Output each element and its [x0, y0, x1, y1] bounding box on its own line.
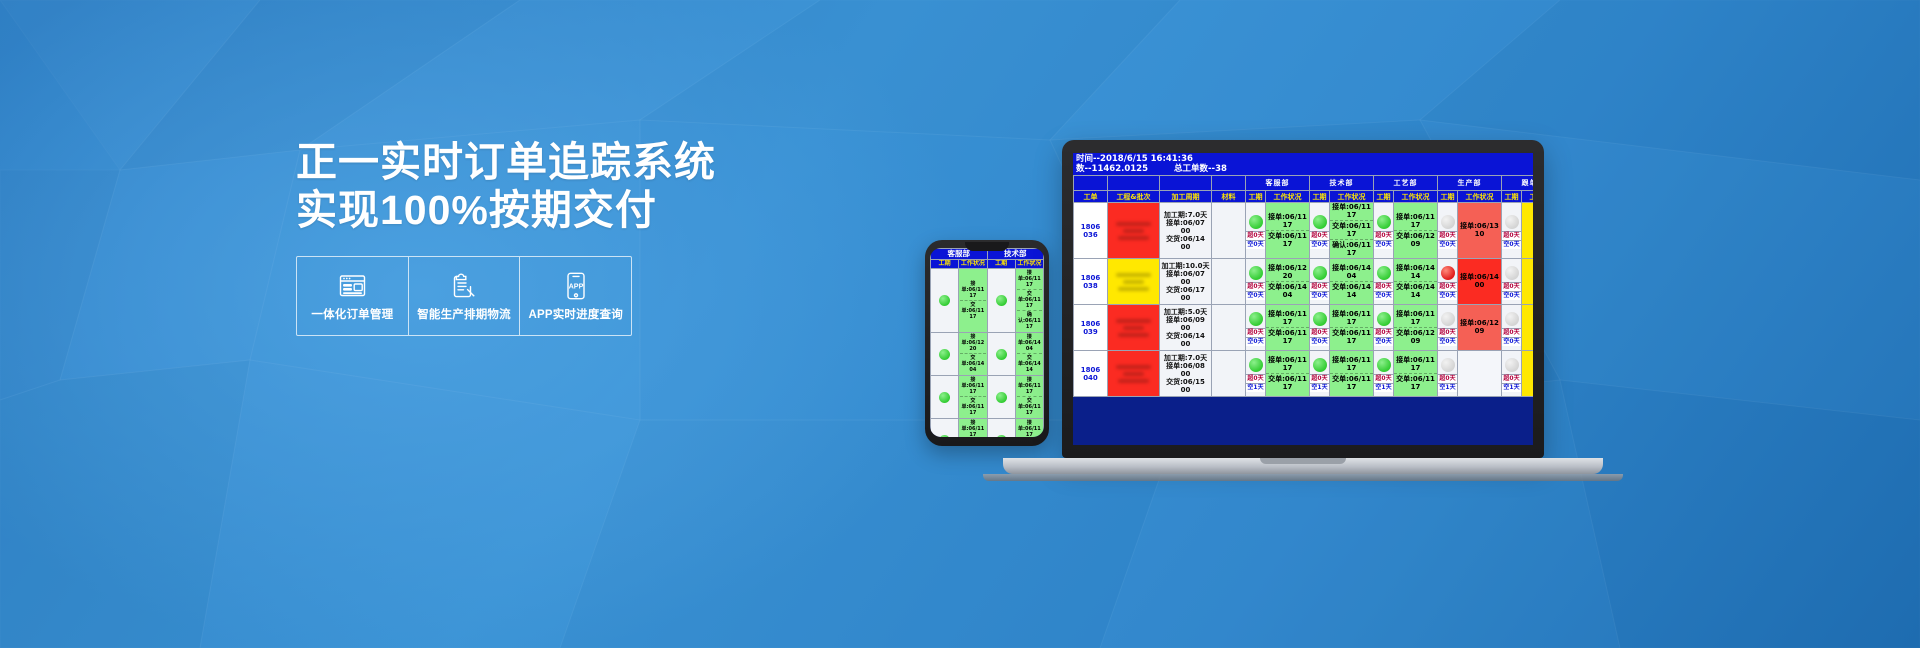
- overdue-label: 超0天: [1502, 231, 1521, 240]
- work-status-cell: 接单:06/12 09: [1458, 305, 1502, 351]
- work-status-cell: 接单:06/11 17交单:06/11 17: [1394, 351, 1438, 397]
- status-dot: [996, 295, 1007, 306]
- material-cell: [1212, 351, 1246, 397]
- status-dot: [1313, 312, 1327, 326]
- status-dot: [1505, 215, 1519, 229]
- processing-cycle-cell: 加工期:10.0天接单:06/07 00交货:06/17 00: [1160, 259, 1212, 305]
- work-status-cell: 交货:: [1522, 259, 1534, 305]
- phone-work-status-cell: 接单:06/11 17交单:06/11 17确认:06/11 17: [1015, 269, 1043, 333]
- status-dot: [1377, 312, 1391, 326]
- status-dot: [1505, 358, 1519, 372]
- erp-col-工作状况: 工作状况: [1522, 191, 1534, 203]
- duration-cell: 超0天空0天: [1246, 305, 1266, 351]
- overdue-label: 超0天: [1502, 374, 1521, 383]
- idle-label: 空0天: [1438, 291, 1457, 300]
- table-row[interactable]: 1806038加工期:10.0天接单:06/07 00交货:06/17 00超0…: [1074, 259, 1534, 305]
- phone-table-row[interactable]: 接单:06/11 17交单:06/11 17接单:06/11 17交单:06/1…: [931, 376, 1044, 419]
- overdue-label: 超0天: [1374, 282, 1393, 291]
- idle-label: 空1天: [1438, 383, 1457, 392]
- duration-cell: 超0天空0天: [1374, 259, 1394, 305]
- work-status-cell: 接单:06/14 00: [1458, 259, 1502, 305]
- overdue-label: 超0天: [1246, 231, 1265, 240]
- phone-duration-cell: [987, 376, 1015, 419]
- overdue-label: 超0天: [1438, 328, 1457, 337]
- duration-cell: 超0天空0天: [1310, 259, 1330, 305]
- status-dot: [1313, 215, 1327, 229]
- erp-col-工期: 工期: [1502, 191, 1522, 203]
- work-status-cell: 交货:: [1522, 203, 1534, 259]
- duration-cell: 超0天空1天: [1502, 351, 1522, 397]
- erp-col-材料: 材料: [1212, 191, 1246, 203]
- idle-label: 空0天: [1374, 337, 1393, 346]
- work-status-cell: 接单:06/11 17交单:06/11 17: [1266, 305, 1310, 351]
- erp-dept-header: 客服部: [1246, 176, 1310, 191]
- duration-cell: 超0天空1天: [1310, 351, 1330, 397]
- duration-cell: 超0天空1天: [1438, 351, 1458, 397]
- laptop-foot: [983, 474, 1623, 481]
- status-dot: [939, 349, 950, 360]
- idle-label: 空0天: [1246, 240, 1265, 249]
- work-status-cell: 接单:06/11 17交单:06/12 09: [1394, 203, 1438, 259]
- overdue-label: 超0天: [1438, 231, 1457, 240]
- status-dot: [1377, 358, 1391, 372]
- promo-banner: 正一实时订单追踪系统 实现100%按期交付: [0, 0, 1920, 648]
- overdue-label: 超0天: [1374, 231, 1393, 240]
- idle-label: 空1天: [1310, 383, 1329, 392]
- status-dot: [1441, 266, 1455, 280]
- status-dot: [1313, 358, 1327, 372]
- phone-duration-cell: [987, 269, 1015, 333]
- status-dot: [1377, 215, 1391, 229]
- erp-time-label: 时间--2018/6/15 16:41:36: [1076, 154, 1530, 164]
- erp-col-工期: 工期: [1438, 191, 1458, 203]
- idle-label: 空0天: [1310, 240, 1329, 249]
- idle-label: 空0天: [1310, 291, 1329, 300]
- erp-col-工单: 工单: [1074, 191, 1108, 203]
- work-status-cell: 交货:: [1522, 351, 1534, 397]
- phone-duration-cell: [987, 333, 1015, 376]
- phone-body: 客服部 技术部 工期 工作状况 工期 工作状况 接单:06/11 17交单:06…: [925, 240, 1049, 446]
- work-status-cell: 接单:06/11 17交单:06/12 09: [1394, 305, 1438, 351]
- material-cell: [1212, 203, 1246, 259]
- phone-col-status: 工作状况: [959, 260, 987, 269]
- erp-total-orders-label: 总工单数--38: [1174, 164, 1227, 174]
- overdue-label: 超0天: [1438, 374, 1457, 383]
- duration-cell: 超0天空0天: [1374, 305, 1394, 351]
- duration-cell: 超0天空0天: [1310, 203, 1330, 259]
- laptop-base-notch: [1260, 458, 1346, 464]
- erp-col-工作状况: 工作状况: [1330, 191, 1374, 203]
- idle-label: 空1天: [1246, 383, 1265, 392]
- idle-label: 空1天: [1374, 383, 1393, 392]
- project-batch-cell: [1108, 259, 1160, 305]
- erp-col-工作状况: 工作状况: [1266, 191, 1310, 203]
- idle-label: 空0天: [1502, 291, 1521, 300]
- processing-cycle-cell: 加工期:7.0天接单:06/07 00交货:06/14 00: [1160, 203, 1212, 259]
- status-dot: [1249, 266, 1263, 280]
- idle-label: 空1天: [1502, 383, 1521, 392]
- phone-work-status-cell: 接单:06/11 17交单:06/11 17: [959, 419, 987, 438]
- phone-duration-cell: [931, 376, 959, 419]
- erp-dept-header: 跟单部: [1502, 176, 1534, 191]
- idle-label: 空0天: [1246, 291, 1265, 300]
- work-status-cell: 接单:06/14 14交单:06/14 14: [1394, 259, 1438, 305]
- overdue-label: 超0天: [1246, 328, 1265, 337]
- status-dot: [1249, 358, 1263, 372]
- duration-cell: 超0天空0天: [1246, 203, 1266, 259]
- phone-notch: [965, 242, 1009, 251]
- phone-work-status-cell: 接单:06/11 17交单:06/11 17: [1015, 376, 1043, 419]
- work-status-cell: 接单:06/12 20交单:06/14 04: [1266, 259, 1310, 305]
- table-row[interactable]: 1806040加工期:7.0天接单:06/08 00交货:06/15 00超0天…: [1074, 351, 1534, 397]
- phone-duration-cell: [931, 333, 959, 376]
- phone-work-status-cell: 接单:06/11 17交单:06/11 17: [959, 269, 987, 333]
- phone-mockup: 客服部 技术部 工期 工作状况 工期 工作状况 接单:06/11 17交单:06…: [925, 240, 1049, 446]
- overdue-label: 超0天: [1310, 282, 1329, 291]
- status-dot: [939, 295, 950, 306]
- status-dot: [939, 392, 950, 403]
- idle-label: 空0天: [1438, 337, 1457, 346]
- erp-col-工期: 工期: [1310, 191, 1330, 203]
- overdue-label: 超0天: [1438, 282, 1457, 291]
- erp-table: 客服部技术部工艺部生产部跟单部 工单工程&批次加工周期材料工期工作状况工期工作状…: [1073, 175, 1533, 397]
- laptop-mockup: 时间--2018/6/15 16:41:36 数--11462.0125 总工单…: [1062, 140, 1623, 481]
- erp-dept-spacer: [1074, 176, 1108, 191]
- phone-work-status-cell: 接单:06/12 20交单:06/14 04: [959, 333, 987, 376]
- idle-label: 空0天: [1310, 337, 1329, 346]
- erp-dept-header-row: 客服部技术部工艺部生产部跟单部: [1074, 176, 1534, 191]
- material-cell: [1212, 305, 1246, 351]
- phone-erp-table: 客服部 技术部 工期 工作状况 工期 工作状况 接单:06/11 17交单:06…: [930, 248, 1044, 437]
- phone-table-row[interactable]: 接单:06/11 17交单:06/11 17接单:06/11 17交单:06/1…: [931, 269, 1044, 333]
- erp-dept-header: 生产部: [1438, 176, 1502, 191]
- phone-col-duration: 工期: [987, 260, 1015, 269]
- duration-cell: 超0天空1天: [1246, 351, 1266, 397]
- phone-screen: 客服部 技术部 工期 工作状况 工期 工作状况 接单:06/11 17交单:06…: [930, 248, 1044, 437]
- erp-qty-label: 数--11462.0125: [1076, 164, 1148, 174]
- phone-col-duration: 工期: [931, 260, 959, 269]
- phone-table-row[interactable]: 接单:06/12 20交单:06/14 04接单:06/14 04交单:06/1…: [931, 333, 1044, 376]
- idle-label: 空0天: [1374, 291, 1393, 300]
- status-dot: [1249, 312, 1263, 326]
- status-dot: [1505, 266, 1519, 280]
- status-dot: [996, 392, 1007, 403]
- order-number-cell: 1806038: [1074, 259, 1108, 305]
- status-dot: [1313, 266, 1327, 280]
- erp-col-工期: 工期: [1374, 191, 1394, 203]
- order-number-cell: 1806036: [1074, 203, 1108, 259]
- erp-col-工程&批次: 工程&批次: [1108, 191, 1160, 203]
- phone-work-status-cell: 接单:06/14 04交单:06/14 14: [1015, 333, 1043, 376]
- overdue-label: 超0天: [1374, 374, 1393, 383]
- duration-cell: 超0天空0天: [1438, 203, 1458, 259]
- idle-label: 空0天: [1246, 337, 1265, 346]
- erp-column-header-row: 工单工程&批次加工周期材料工期工作状况工期工作状况工期工作状况工期工作状况工期工…: [1074, 191, 1534, 203]
- processing-cycle-cell: 加工期:7.0天接单:06/08 00交货:06/15 00: [1160, 351, 1212, 397]
- phone-column-header-row: 工期 工作状况 工期 工作状况: [931, 260, 1044, 269]
- overdue-label: 超0天: [1374, 328, 1393, 337]
- status-dot: [1441, 215, 1455, 229]
- idle-label: 空0天: [1374, 240, 1393, 249]
- overdue-label: 超0天: [1246, 282, 1265, 291]
- project-batch-cell: [1108, 305, 1160, 351]
- phone-duration-cell: [987, 419, 1015, 438]
- order-number-cell: 1806040: [1074, 351, 1108, 397]
- overdue-label: 超0天: [1310, 328, 1329, 337]
- phone-work-status-cell: 接单:06/11 17交单:06/11 17: [1015, 419, 1043, 438]
- work-status-cell: 接单:06/11 17交单:06/11 17: [1266, 203, 1310, 259]
- overdue-label: 超0天: [1502, 328, 1521, 337]
- work-status-cell: 接单:06/11 17交单:06/11 17确认:06/11 17: [1330, 203, 1374, 259]
- laptop-lid: 时间--2018/6/15 16:41:36 数--11462.0125 总工单…: [1062, 140, 1544, 458]
- work-status-cell: 接单:06/14 04交单:06/14 14: [1330, 259, 1374, 305]
- idle-label: 空0天: [1502, 240, 1521, 249]
- table-row[interactable]: 1806039加工期:5.0天接单:06/09 00交货:06/14 00超0天…: [1074, 305, 1534, 351]
- idle-label: 空0天: [1502, 337, 1521, 346]
- erp-col-加工周期: 加工周期: [1160, 191, 1212, 203]
- status-dot: [1377, 266, 1391, 280]
- project-batch-cell: [1108, 351, 1160, 397]
- order-number-cell: 1806039: [1074, 305, 1108, 351]
- overdue-label: 超0天: [1310, 374, 1329, 383]
- status-dot: [1441, 312, 1455, 326]
- work-status-cell: 接单:06/11 17交单:06/11 17: [1266, 351, 1310, 397]
- duration-cell: 超0天空0天: [1502, 203, 1522, 259]
- overdue-label: 超0天: [1502, 282, 1521, 291]
- work-status-cell: 交货:: [1522, 305, 1534, 351]
- status-dot: [939, 435, 950, 438]
- material-cell: [1212, 259, 1246, 305]
- erp-col-工作状况: 工作状况: [1458, 191, 1502, 203]
- erp-dept-header: 技术部: [1310, 176, 1374, 191]
- idle-label: 空0天: [1438, 240, 1457, 249]
- status-dot: [1249, 215, 1263, 229]
- phone-table-row[interactable]: 接单:06/11 17交单:06/11 17接单:06/11 17交单:06/1…: [931, 419, 1044, 438]
- phone-work-status-cell: 接单:06/11 17交单:06/11 17: [959, 376, 987, 419]
- work-status-cell: 接单:06/13 10: [1458, 203, 1502, 259]
- erp-status-bar: 时间--2018/6/15 16:41:36 数--11462.0125 总工单…: [1073, 153, 1533, 175]
- erp-dept-spacer: [1212, 176, 1246, 191]
- duration-cell: 超0天空0天: [1502, 305, 1522, 351]
- status-dot: [1441, 358, 1455, 372]
- erp-col-工期: 工期: [1246, 191, 1266, 203]
- laptop-base: [1003, 458, 1603, 474]
- status-dot: [996, 435, 1007, 438]
- phone-duration-cell: [931, 419, 959, 438]
- duration-cell: 超0天空0天: [1246, 259, 1266, 305]
- status-dot: [1505, 312, 1519, 326]
- duration-cell: 超0天空0天: [1310, 305, 1330, 351]
- work-status-cell: 接单:06/11 17交单:06/11 17: [1330, 351, 1374, 397]
- phone-duration-cell: [931, 269, 959, 333]
- overdue-label: 超0天: [1246, 374, 1265, 383]
- duration-cell: 超0天空0天: [1438, 259, 1458, 305]
- erp-dept-spacer: [1160, 176, 1212, 191]
- work-status-cell: 接单:06/11 17交单:06/11 17: [1330, 305, 1374, 351]
- duration-cell: 超0天空1天: [1374, 351, 1394, 397]
- table-row[interactable]: 1806036加工期:7.0天接单:06/07 00交货:06/14 00超0天…: [1074, 203, 1534, 259]
- project-batch-cell: [1108, 203, 1160, 259]
- erp-dept-spacer: [1108, 176, 1160, 191]
- device-mockups: 客服部 技术部 工期 工作状况 工期 工作状况 接单:06/11 17交单:06…: [0, 0, 1920, 648]
- status-dot: [996, 349, 1007, 360]
- duration-cell: 超0天空0天: [1438, 305, 1458, 351]
- processing-cycle-cell: 加工期:5.0天接单:06/09 00交货:06/14 00: [1160, 305, 1212, 351]
- phone-col-status: 工作状况: [1015, 260, 1043, 269]
- erp-dept-header: 工艺部: [1374, 176, 1438, 191]
- duration-cell: 超0天空0天: [1502, 259, 1522, 305]
- duration-cell: 超0天空0天: [1374, 203, 1394, 259]
- work-status-cell: [1458, 351, 1502, 397]
- laptop-screen: 时间--2018/6/15 16:41:36 数--11462.0125 总工单…: [1073, 153, 1533, 445]
- erp-col-工作状况: 工作状况: [1394, 191, 1438, 203]
- overdue-label: 超0天: [1310, 231, 1329, 240]
